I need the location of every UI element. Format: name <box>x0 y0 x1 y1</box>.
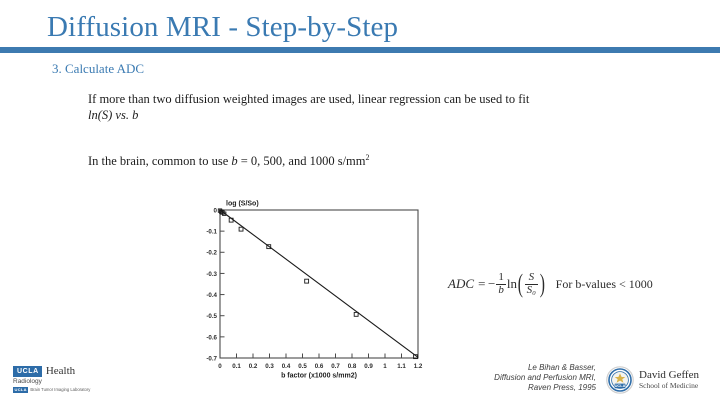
ucla-health-wordmark: UCLA Health <box>13 366 125 377</box>
ucla-seal-icon: UCLA <box>606 366 634 394</box>
y-tick-labels: 0 -0.1 -0.2 -0.3 -0.4 -0.5 -0.6 -0.7 <box>206 207 217 362</box>
ucla-badge: UCLA <box>13 366 42 377</box>
y-tick-label: -0.5 <box>206 313 217 320</box>
para2-values: = 0, 500, and 1000 s/mm <box>238 154 366 168</box>
fraction-numerator: 1 <box>496 272 506 284</box>
y-tick-label: -0.3 <box>206 271 217 278</box>
x-tick-label: 0.3 <box>265 363 274 370</box>
adc-equation: ADC = − 1 b ln ( S S₀ ) For b-values < 1… <box>448 272 653 296</box>
para2-prefix: In the brain, common to use <box>88 154 231 168</box>
citation-line-1: Le Bihan & Basser, <box>444 363 596 373</box>
x-tick-label: 0.5 <box>298 363 307 370</box>
x-tick-label: 0.6 <box>315 363 324 370</box>
ucla-lab-badge: UCLA <box>13 387 28 393</box>
y-tick-label: -0.1 <box>206 229 217 236</box>
y-tick-label: -0.4 <box>206 292 217 299</box>
title-divider <box>0 47 720 53</box>
geffen-wordmark: David Geffen School of Medicine <box>639 370 699 391</box>
x-tick-label: 0.2 <box>249 363 258 370</box>
regression-chart: 0 -0.1 -0.2 -0.3 -0.4 -0.5 -0.6 -0.7 0 0… <box>196 196 444 381</box>
body-paragraph-1: If more than two diffusion weighted imag… <box>88 91 558 123</box>
page-title: Diffusion MRI - Step-by-Step <box>47 11 398 44</box>
body-paragraph-2: In the brain, common to use b = 0, 500, … <box>88 150 558 169</box>
x-tick-label: 0.4 <box>282 363 291 370</box>
natural-log-operator: ln <box>507 276 517 292</box>
x-tick-label: 1.1 <box>397 363 406 370</box>
equation-note: For b-values < 1000 <box>556 277 653 292</box>
equation-lhs: ADC = <box>448 276 486 292</box>
seal-text: UCLA <box>615 383 626 388</box>
x-tick-label: 0.8 <box>348 363 357 370</box>
x-tick-label: 1 <box>383 363 387 370</box>
y-axis-label: log (S/So) <box>226 201 259 208</box>
lab-name: Brain Tumor Imaging Laboratory <box>30 388 90 392</box>
left-paren: ( <box>518 274 523 295</box>
geffen-subtitle: School of Medicine <box>639 382 699 390</box>
david-geffen-logo: UCLA David Geffen School of Medicine <box>606 366 699 394</box>
equation-minus: − <box>488 276 495 292</box>
fraction-denominator: b <box>496 284 506 297</box>
slide: Diffusion MRI - Step-by-Step 3. Calculat… <box>0 0 720 405</box>
inner-denominator: S₀ <box>525 284 538 297</box>
x-tick-label: 0.1 <box>232 363 241 370</box>
citation-line-2: Diffusion and Perfusion MRI, <box>444 373 596 383</box>
x-tick-label: 0.9 <box>364 363 373 370</box>
department-label: Radiology <box>13 379 125 386</box>
para1-line2: ln(S) vs. b <box>88 108 138 122</box>
y-tick-label: -0.6 <box>206 334 217 341</box>
x-tick-label: 0.7 <box>331 363 340 370</box>
section-subtitle: 3. Calculate ADC <box>52 61 144 77</box>
x-tick-label: 1.2 <box>414 363 423 370</box>
one-over-b-fraction: 1 b <box>496 272 506 296</box>
x-tick-labels: 0 0.1 0.2 0.3 0.4 0.5 0.6 0.7 0.8 0.9 1 … <box>218 363 423 370</box>
health-wordmark: Health <box>46 366 75 377</box>
para1-line1: If more than two diffusion weighted imag… <box>88 92 529 106</box>
y-tick-label: 0 <box>214 207 218 214</box>
source-citation: Le Bihan & Basser, Diffusion and Perfusi… <box>444 363 596 393</box>
para2-exponent: 2 <box>366 153 370 162</box>
x-axis-label: b factor (x1000 s/mm2) <box>281 373 357 380</box>
lab-credit: UCLA Brain Tumor Imaging Laboratory <box>13 387 125 393</box>
inner-numerator: S <box>527 272 537 284</box>
ucla-health-logo: UCLA Health Radiology UCLA Brain Tumor I… <box>13 366 125 393</box>
geffen-name: David Geffen <box>639 370 699 382</box>
x-tick-label: 0 <box>218 363 222 370</box>
y-tick-label: -0.7 <box>206 355 217 362</box>
y-tick-label: -0.2 <box>206 250 217 257</box>
citation-line-3: Raven Press, 1995 <box>444 383 596 393</box>
s-over-s0-fraction: S S₀ <box>525 272 538 296</box>
right-paren: ) <box>540 274 545 295</box>
